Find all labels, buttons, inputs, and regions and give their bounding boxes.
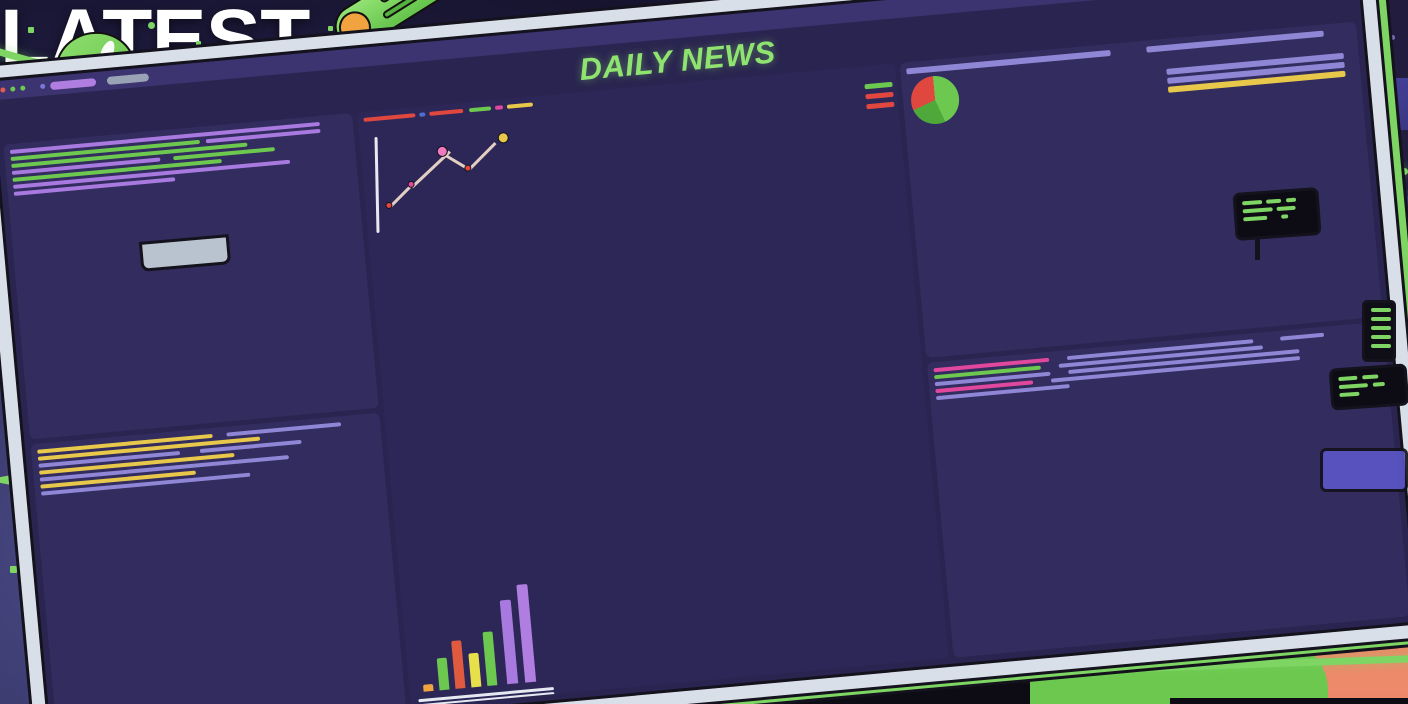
- chart-bar: [517, 584, 537, 683]
- panel-left-top[interactable]: [3, 113, 379, 440]
- chart-line-segment: [468, 142, 497, 171]
- chart-bar: [423, 684, 434, 692]
- monitor-code-line: [1338, 376, 1357, 381]
- ticker-bar: [430, 109, 464, 116]
- panel-left-bottom[interactable]: [31, 413, 407, 704]
- ticker-bar: [469, 106, 491, 112]
- monitor-code-line: [1281, 214, 1288, 218]
- chart-bar: [483, 631, 498, 686]
- monitor-code-line: [1243, 207, 1273, 213]
- chart-legend-item: [864, 82, 892, 90]
- dashboard-left-column: [3, 113, 406, 704]
- chart-legend-item: [866, 102, 894, 110]
- chart-bar: [452, 640, 466, 689]
- chart-y-axis: [375, 137, 380, 233]
- wall-panel-purple: [1320, 448, 1408, 492]
- chart-bar: [437, 658, 450, 691]
- ticker-bar: [420, 112, 426, 117]
- dashboard-right-column: [899, 22, 1408, 658]
- monitor-code-line: [1266, 199, 1281, 204]
- window-minimize-dot[interactable]: [10, 86, 15, 91]
- ticker-bar: [507, 102, 533, 108]
- server-rack: [1362, 300, 1396, 362]
- ticker-bar: [495, 105, 503, 110]
- search-pill[interactable]: [107, 73, 150, 85]
- monitor-code-line: [1277, 206, 1296, 211]
- chart-bar: [469, 653, 482, 688]
- monitor-code-line: [1339, 392, 1360, 397]
- chart-panel[interactable]: [357, 64, 948, 704]
- tab-indicator-dot: [40, 84, 45, 89]
- monitor-code-line: [1285, 198, 1296, 203]
- monitor-code-line: [1362, 374, 1378, 379]
- main-monitor: DAILY NEWS: [0, 338, 392, 590]
- window-maximize-dot[interactable]: [20, 85, 25, 90]
- monitor-code-line: [1242, 200, 1263, 205]
- banner-canvas: LATEST CRYPTO NEWS AND UPDATES: [0, 0, 1408, 704]
- ticker-bar: [364, 113, 416, 122]
- monitor-frame: DAILY NEWS: [0, 0, 1408, 704]
- top-right-monitor[interactable]: [1232, 187, 1321, 241]
- mid-right-monitor[interactable]: [1329, 363, 1408, 410]
- monitor-code-line: [1243, 216, 1268, 222]
- monitor-code-line: [1372, 382, 1384, 387]
- chart-legend-item: [865, 92, 893, 100]
- pie-chart: [909, 74, 961, 126]
- window-close-dot[interactable]: [0, 87, 5, 92]
- dashboard-chart-column: [357, 64, 948, 704]
- chart-bar: [500, 599, 519, 684]
- chart-point: [498, 132, 510, 144]
- monitor-screen[interactable]: DAILY NEWS: [0, 0, 1408, 704]
- monitor-mount-arm: [1255, 236, 1260, 260]
- monitor-code-line: [1339, 383, 1368, 389]
- address-pill[interactable]: [50, 78, 97, 90]
